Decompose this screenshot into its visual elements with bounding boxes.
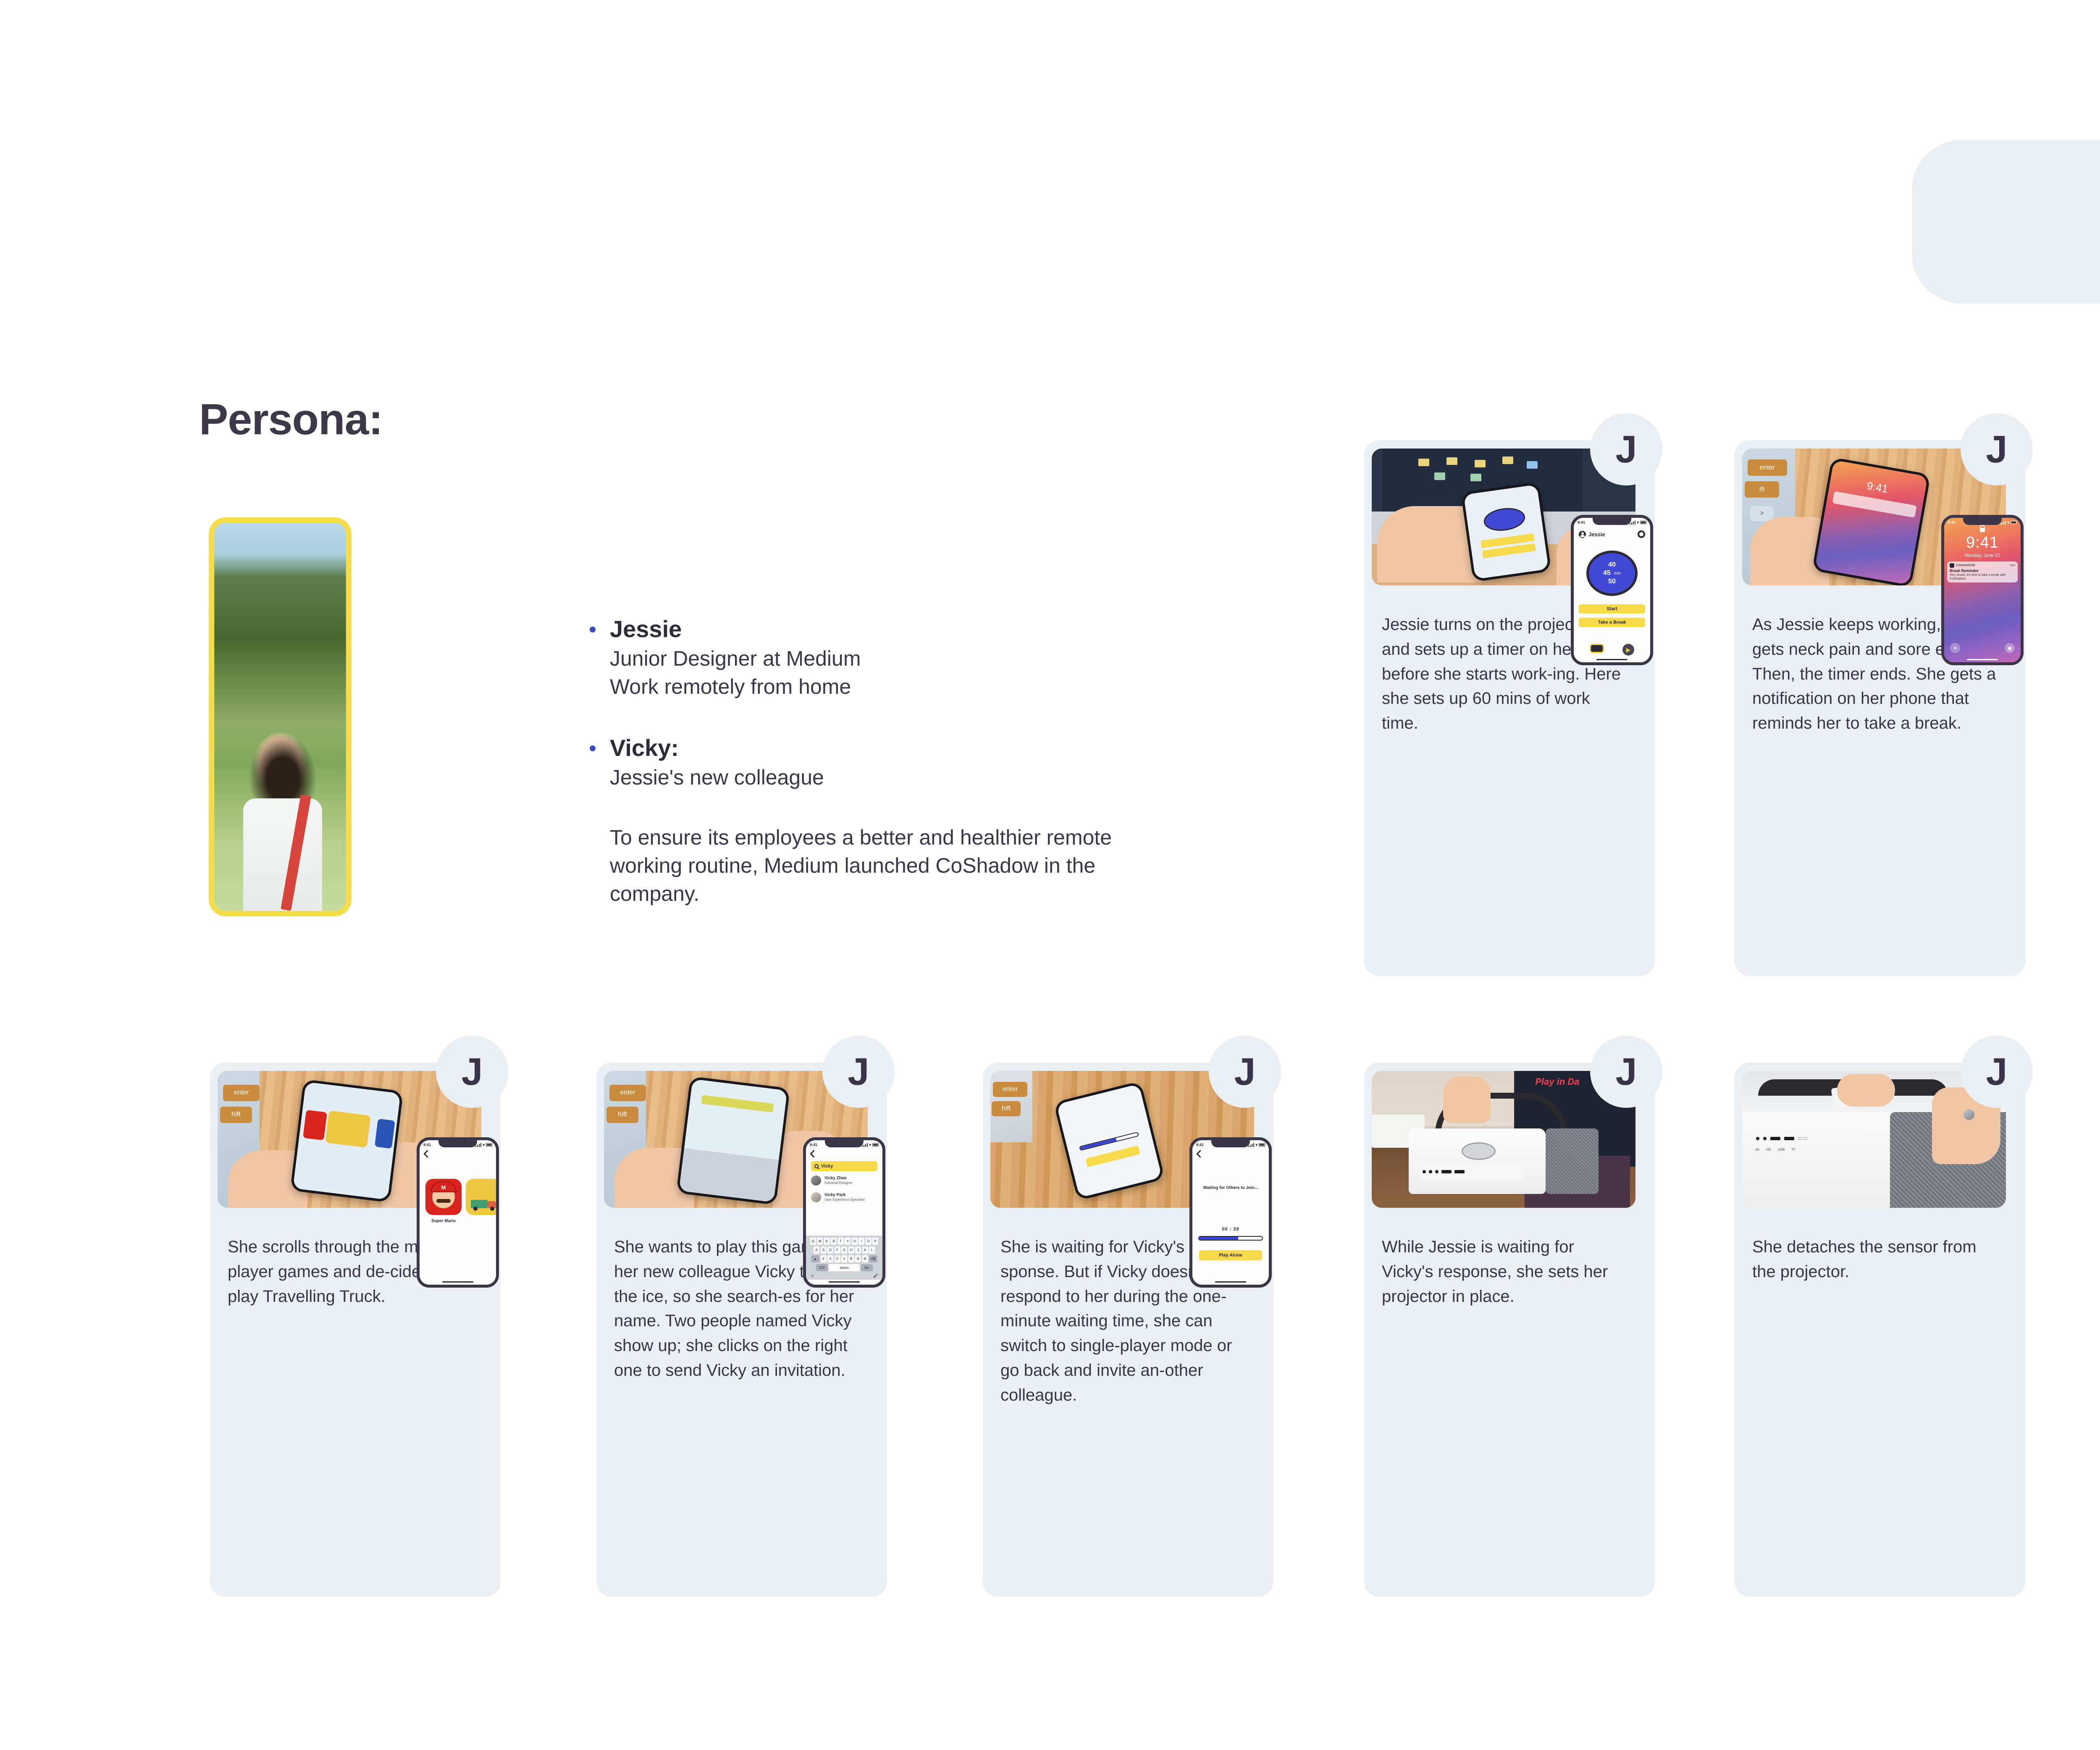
persona-badge-icon: J	[1961, 413, 2033, 485]
battery-icon	[1259, 1143, 1265, 1147]
lock-icon	[1980, 528, 1985, 532]
persona-badge-icon: J	[1590, 1036, 1662, 1108]
back-chevron-icon[interactable]	[423, 1150, 431, 1157]
storyboard-card-6: J enter hift 9:41	[983, 1063, 1273, 1597]
result-name-2: Vicky Park	[824, 1193, 865, 1198]
persona-name-vicky: Vicky:	[610, 732, 1198, 763]
wifi-icon: ▾	[1637, 520, 1639, 525]
persona-name-jessie: Jessie	[610, 613, 1198, 645]
break-reminder-notification[interactable]: COSHADOW now Break Reminder Hey Jessie, …	[1947, 561, 2018, 582]
games-carousel[interactable]: Super Mario	[425, 1179, 499, 1223]
progress-bar	[1198, 1236, 1263, 1241]
card-caption-7: While Jessie is waiting for Vicky's resp…	[1382, 1235, 1630, 1309]
keyboard-row-1: Q W E R T Y U I O P	[807, 1238, 881, 1245]
persona-badge-icon: J	[436, 1036, 508, 1108]
key-l[interactable]: L	[869, 1246, 875, 1254]
wifi-icon: ▾	[869, 1143, 871, 1147]
persona-work-jessie: Work remotely from home	[610, 673, 1198, 701]
inset-phone-6: 9:41 ▾ Waiting for Others to Join... 00 …	[1189, 1137, 1272, 1288]
user-avatar-icon	[1579, 531, 1586, 538]
persona-badge-icon: J	[1590, 413, 1662, 485]
key-n[interactable]: N	[855, 1255, 861, 1262]
port-label-tf: TF	[1791, 1148, 1795, 1152]
back-chevron-icon[interactable]	[1196, 1150, 1204, 1157]
game-tile-travelling-truck[interactable]	[466, 1179, 499, 1223]
storyboard-card-2: J enter ift > 9:41 9:41	[1735, 440, 2025, 976]
port-label-av: AV	[1755, 1148, 1759, 1152]
result-name-1: Vicky Zhao	[824, 1176, 853, 1181]
backspace-key[interactable]: ⌫	[869, 1255, 877, 1262]
phone-username: Jessie	[1588, 531, 1605, 538]
camera-icon[interactable]: ▣	[2005, 643, 2015, 653]
persona-entry-vicky: Vicky: Jessie's new colleague	[610, 732, 1198, 792]
key-b[interactable]: B	[848, 1255, 854, 1262]
key-v[interactable]: V	[841, 1255, 847, 1262]
inset-phone-1: 9:41 ▾ Jessie 40 45 min	[1571, 515, 1653, 665]
timer-unit-label: min	[1614, 571, 1621, 576]
status-time: 9:41	[810, 1143, 817, 1147]
key-f[interactable]: F	[835, 1246, 840, 1254]
wifi-icon: ▾	[1255, 1143, 1257, 1147]
search-result-row-2[interactable]: Vicky Park User Experience Specialist	[811, 1192, 877, 1202]
take-a-break-button[interactable]: Take a Break	[1579, 618, 1645, 627]
battery-icon	[1640, 521, 1646, 524]
signal-icon	[2000, 521, 2006, 525]
phone-status-bar: 9:41 ▾	[1574, 519, 1650, 526]
app-icon	[1950, 563, 1954, 568]
super-mario-artwork	[425, 1179, 462, 1215]
storyboard-card-7: J Play in Da While Jessie is waiting for…	[1364, 1063, 1655, 1597]
back-chevron-icon[interactable]	[810, 1150, 817, 1157]
key-t[interactable]: T	[838, 1238, 844, 1245]
keyboard-bottom-row: ☺ 🎤	[807, 1273, 881, 1278]
phone-status-bar: 9:41 ▾	[1192, 1141, 1269, 1148]
persona-badge-icon: J	[1961, 1036, 2033, 1108]
storyboard-page: Storyboard Persona: Jessie Junior Design…	[0, 0, 2100, 1750]
persona-badge-icon: J	[1209, 1036, 1281, 1108]
avatar	[811, 1192, 821, 1202]
keyboard-row-3: ▲ Z X C V B N M ⌫	[807, 1255, 881, 1262]
key-x[interactable]: X	[827, 1255, 833, 1262]
storyboard-card-4: J enter hift 9:41	[210, 1063, 501, 1597]
persona-paragraph: To ensure its employees a better and hea…	[610, 824, 1164, 908]
persona-photo	[209, 517, 352, 916]
wifi-icon: ▾	[2007, 520, 2009, 525]
lockscreen-time: 9:41	[1944, 534, 2021, 552]
numbers-key[interactable]: 123	[816, 1264, 828, 1271]
key-y[interactable]: Y	[845, 1238, 850, 1245]
result-role-2: User Experience Specialist	[824, 1198, 865, 1202]
keyboard-row-4: 123 space Go	[807, 1264, 881, 1271]
search-icon	[814, 1164, 819, 1168]
gear-icon[interactable]	[1638, 530, 1645, 538]
phone-dock: ▶	[1574, 644, 1650, 656]
microphone-icon[interactable]: 🎤	[873, 1274, 878, 1278]
phone-status-bar: 9:41 ▾	[806, 1141, 882, 1148]
phone-status-bar: 9:41 ▾	[420, 1141, 496, 1148]
key-i[interactable]: I	[858, 1238, 864, 1245]
persona-photo-shirt	[243, 798, 322, 911]
title-banner: Storyboard	[1912, 140, 2100, 304]
status-time: 9:41	[1948, 520, 1956, 525]
travelling-truck-artwork	[466, 1179, 499, 1215]
key-k[interactable]: K	[862, 1246, 868, 1254]
home-indicator	[1215, 1281, 1246, 1283]
key-h[interactable]: H	[848, 1246, 854, 1254]
countdown-timer: 00 : 39	[1192, 1227, 1269, 1232]
space-key[interactable]: space	[829, 1264, 860, 1271]
key-d[interactable]: D	[827, 1246, 833, 1254]
notification-app-name: COSHADOW	[1956, 564, 1975, 567]
timer-value-above: 40	[1608, 561, 1616, 569]
home-indicator	[829, 1281, 860, 1283]
bullet-dot-icon	[590, 745, 596, 751]
avatar	[811, 1175, 821, 1186]
start-button[interactable]: Start	[1579, 604, 1645, 614]
key-z[interactable]: Z	[821, 1255, 827, 1262]
search-value: Vicky	[821, 1164, 833, 1169]
projector-ports	[1419, 1164, 1525, 1179]
home-indicator	[442, 1281, 473, 1283]
onscreen-keyboard[interactable]: Q W E R T Y U I O P A S D F G H	[806, 1236, 882, 1280]
key-m[interactable]: M	[862, 1255, 868, 1262]
key-u[interactable]: U	[852, 1238, 858, 1245]
game-label-0: Super Mario	[425, 1219, 462, 1223]
progress-bar-fill	[1199, 1237, 1238, 1240]
signal-icon	[1630, 521, 1635, 525]
home-indicator	[1967, 659, 1998, 660]
wifi-icon: ▾	[483, 1143, 485, 1147]
waiting-status-text: Waiting for Others to Join...	[1192, 1186, 1269, 1190]
battery-icon	[486, 1143, 492, 1147]
key-o[interactable]: O	[866, 1238, 871, 1245]
projector-icon[interactable]	[1590, 644, 1604, 653]
emoji-icon[interactable]: ☺	[810, 1274, 814, 1278]
key-w[interactable]: W	[817, 1238, 823, 1245]
inset-phone-2: 9:41 ▾ 9:41 Monday, June 22 COSHADOW now…	[1941, 515, 2024, 665]
notification-timestamp: now	[2010, 564, 2015, 567]
timer-value-selected: 45	[1603, 569, 1611, 577]
key-e[interactable]: E	[824, 1238, 830, 1245]
key-s[interactable]: S	[821, 1246, 827, 1254]
persona-role-jessie: Junior Designer at Medium	[610, 645, 1198, 673]
port-label-hd: HD	[1766, 1148, 1771, 1152]
status-time: 9:41	[423, 1143, 431, 1147]
signal-icon	[862, 1143, 868, 1147]
bullet-dot-icon	[590, 627, 596, 632]
persona-role-vicky: Jessie's new colleague	[610, 763, 1198, 792]
battery-icon	[872, 1143, 879, 1147]
battery-icon	[2011, 521, 2017, 524]
persona-badge-icon: J	[822, 1036, 895, 1108]
home-indicator	[1596, 659, 1627, 660]
key-g[interactable]: G	[841, 1246, 847, 1254]
result-role-1: Industrial Designer	[824, 1181, 853, 1185]
signal-icon	[1248, 1143, 1254, 1147]
shift-key[interactable]: ▲	[811, 1255, 819, 1262]
key-j[interactable]: J	[855, 1246, 861, 1254]
play-alone-button[interactable]: Play Alone	[1199, 1250, 1262, 1260]
search-result-row-1[interactable]: Vicky Zhao Industrial Designer	[811, 1175, 877, 1186]
timer-dial[interactable]: 40 45 min 50	[1586, 551, 1638, 596]
card-caption-8: She detaches the sensor from the project…	[1752, 1235, 2000, 1284]
inset-phone-5: 9:41 ▾ Vicky Vicky Zhao Industrial Desig…	[803, 1137, 885, 1288]
persona-entry-jessie: Jessie Junior Designer at Medium Work re…	[610, 613, 1198, 701]
status-time: 9:41	[1578, 520, 1585, 525]
signal-icon	[475, 1143, 481, 1147]
go-key[interactable]: Go	[861, 1264, 873, 1271]
port-label-usb: USB	[1778, 1148, 1785, 1152]
lockscreen-date: Monday, June 22	[1944, 553, 2021, 558]
search-input[interactable]: Vicky	[811, 1161, 877, 1171]
timer-value-below: 50	[1608, 578, 1616, 585]
key-c[interactable]: C	[835, 1255, 840, 1262]
play-icon[interactable]: ▶	[1622, 644, 1634, 656]
persona-details: Jessie Junior Designer at Medium Work re…	[610, 613, 1198, 908]
key-p[interactable]: P	[872, 1238, 878, 1245]
keyboard-row-2: A S D F G H J K L	[807, 1246, 881, 1254]
flashlight-icon[interactable]: ☀	[1950, 643, 1960, 653]
projector-port-strip	[1753, 1131, 1864, 1146]
storyboard-card-5: J enter hift 9:41	[596, 1063, 887, 1597]
status-time: 9:41	[1196, 1143, 1204, 1147]
game-tile-super-mario[interactable]: Super Mario	[425, 1179, 462, 1223]
key-q[interactable]: Q	[810, 1238, 816, 1245]
inset-phone-4: 9:41 ▾ Super Mario	[417, 1137, 499, 1288]
persona-heading: Persona:	[199, 395, 383, 445]
notification-title: Break Reminder	[1950, 569, 2015, 573]
key-a[interactable]: A	[814, 1246, 819, 1254]
storyboard-card-1: J	[1364, 440, 1655, 976]
notification-body: Hey Jessie, it's time to take a break wi…	[1950, 573, 2015, 581]
key-r[interactable]: R	[831, 1238, 837, 1245]
phone-app-bar: Jessie	[1574, 528, 1650, 540]
storyboard-card-8: J AV HD USB TF	[1735, 1063, 2025, 1597]
